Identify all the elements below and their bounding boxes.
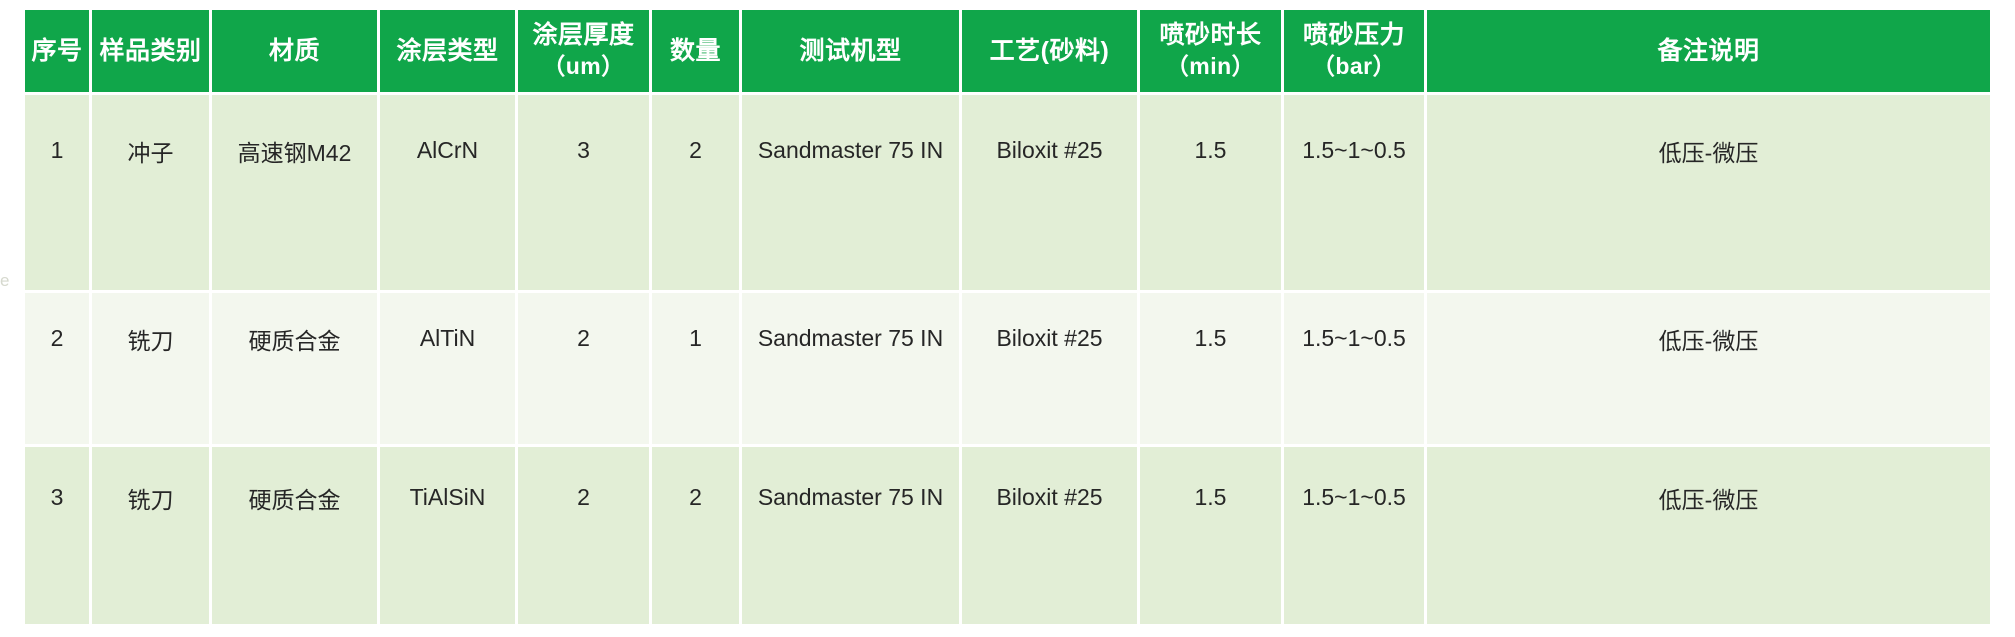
table-row[interactable]: 2 铣刀 硬质合金 AlTiN 2 1 Sandmaster 75 IN Bil… — [25, 293, 1990, 447]
spreadsheet-canvas: e 序号 样品类别 材质 — [0, 0, 2015, 637]
column-header-process-media[interactable]: 工艺(砂料) — [962, 10, 1140, 95]
column-header-remark-label: 备注说明 — [1657, 37, 1759, 65]
column-header-coating-thickness-unit: （um） — [522, 51, 645, 82]
column-header-quantity[interactable]: 数量 — [652, 10, 742, 95]
column-header-blast-time[interactable]: 喷砂时长 （min） — [1140, 10, 1284, 95]
cell-test-machine-value: Sandmaster 75 IN — [746, 137, 955, 164]
cell-index-value: 2 — [29, 325, 85, 352]
cell-process-media-value: Biloxit #25 — [966, 325, 1133, 352]
cell-blast-pressure-value: 1.5~1~0.5 — [1288, 137, 1420, 164]
cell-blast-time-value: 1.5 — [1144, 137, 1277, 164]
table-header-row: 序号 样品类别 材质 涂层类型 涂层厚度 （um） 数量 — [25, 10, 1990, 95]
cell-coating-thickness[interactable]: 2 — [518, 293, 652, 447]
cell-coating-type[interactable]: AlTiN — [380, 293, 518, 447]
cell-remark-value: 低压-微压 — [1431, 481, 1986, 515]
column-header-blast-pressure[interactable]: 喷砂压力 （bar） — [1284, 10, 1427, 95]
cell-blast-time[interactable]: 1.5 — [1140, 95, 1284, 293]
column-header-coating-thickness-label: 涂层厚度 — [532, 21, 634, 49]
column-header-remark[interactable]: 备注说明 — [1427, 10, 1990, 95]
cell-index[interactable]: 2 — [25, 293, 92, 447]
column-header-blast-pressure-label: 喷砂压力 — [1303, 21, 1405, 49]
table-row[interactable]: 3 铣刀 硬质合金 TiAlSiN 2 2 Sandmaster 75 IN B… — [25, 447, 1990, 624]
cell-coating-type[interactable]: AlCrN — [380, 95, 518, 293]
cell-sample-type-value: 冲子 — [96, 134, 205, 168]
column-header-blast-time-unit: （min） — [1144, 51, 1277, 82]
cell-index-value: 3 — [29, 484, 85, 511]
cell-quantity-value: 2 — [656, 137, 735, 164]
cell-material-value: 高速钢M42 — [216, 134, 373, 168]
cell-blast-pressure-value: 1.5~1~0.5 — [1288, 484, 1420, 511]
cell-remark[interactable]: 低压-微压 — [1427, 293, 1990, 447]
column-header-coating-type-label: 涂层类型 — [396, 37, 498, 65]
column-header-test-machine[interactable]: 测试机型 — [742, 10, 962, 95]
table-row[interactable]: 1 冲子 高速钢M42 AlCrN 3 2 Sandmaster 75 IN B… — [25, 95, 1990, 293]
column-header-quantity-label: 数量 — [670, 37, 721, 65]
cell-process-media-value: Biloxit #25 — [966, 137, 1133, 164]
cell-blast-time[interactable]: 1.5 — [1140, 293, 1284, 447]
column-header-index-label: 序号 — [31, 37, 82, 65]
cell-sample-type-value: 铣刀 — [96, 322, 205, 356]
cell-test-machine-value: Sandmaster 75 IN — [746, 325, 955, 352]
cell-coating-type-value: TiAlSiN — [384, 484, 511, 511]
cell-material[interactable]: 硬质合金 — [212, 293, 380, 447]
cell-remark-value: 低压-微压 — [1431, 134, 1986, 168]
cell-quantity[interactable]: 2 — [652, 447, 742, 624]
cell-test-machine[interactable]: Sandmaster 75 IN — [742, 95, 962, 293]
cell-test-machine[interactable]: Sandmaster 75 IN — [742, 447, 962, 624]
cell-test-machine-value: Sandmaster 75 IN — [746, 484, 955, 511]
cell-material-value: 硬质合金 — [216, 322, 373, 356]
sandblasting-test-plan-table: 序号 样品类别 材质 涂层类型 涂层厚度 （um） 数量 — [25, 10, 1990, 624]
cell-process-media[interactable]: Biloxit #25 — [962, 293, 1140, 447]
column-header-test-machine-label: 测试机型 — [799, 37, 901, 65]
cell-sample-type[interactable]: 冲子 — [92, 95, 212, 293]
cell-blast-time-value: 1.5 — [1144, 484, 1277, 511]
cell-coating-thickness-value: 2 — [522, 484, 645, 511]
cell-index[interactable]: 3 — [25, 447, 92, 624]
cell-remark-value: 低压-微压 — [1431, 322, 1986, 356]
cell-quantity-value: 2 — [656, 484, 735, 511]
cell-coating-type-value: AlTiN — [384, 325, 511, 352]
cell-coating-type-value: AlCrN — [384, 137, 511, 164]
cell-remark[interactable]: 低压-微压 — [1427, 95, 1990, 293]
cell-quantity[interactable]: 1 — [652, 293, 742, 447]
column-header-material-label: 材质 — [269, 37, 320, 65]
cell-blast-pressure[interactable]: 1.5~1~0.5 — [1284, 447, 1427, 624]
cell-process-media-value: Biloxit #25 — [966, 484, 1133, 511]
column-header-blast-pressure-unit: （bar） — [1288, 51, 1420, 82]
column-header-sample-type[interactable]: 样品类别 — [92, 10, 212, 95]
column-header-index[interactable]: 序号 — [25, 10, 92, 95]
cell-sample-type-value: 铣刀 — [96, 481, 205, 515]
cell-coating-thickness[interactable]: 3 — [518, 95, 652, 293]
cell-quantity-value: 1 — [656, 325, 735, 352]
cell-index-value: 1 — [29, 137, 85, 164]
column-header-coating-type[interactable]: 涂层类型 — [380, 10, 518, 95]
cell-blast-pressure[interactable]: 1.5~1~0.5 — [1284, 293, 1427, 447]
cell-material[interactable]: 高速钢M42 — [212, 95, 380, 293]
column-header-coating-thickness[interactable]: 涂层厚度 （um） — [518, 10, 652, 95]
cell-quantity[interactable]: 2 — [652, 95, 742, 293]
clipped-edge-artifact: e — [0, 272, 9, 306]
cell-coating-thickness-value: 2 — [522, 325, 645, 352]
column-header-blast-time-label: 喷砂时长 — [1159, 21, 1261, 49]
cell-blast-pressure-value: 1.5~1~0.5 — [1288, 325, 1420, 352]
cell-blast-time-value: 1.5 — [1144, 325, 1277, 352]
cell-sample-type[interactable]: 铣刀 — [92, 447, 212, 624]
cell-coating-type[interactable]: TiAlSiN — [380, 447, 518, 624]
cell-material[interactable]: 硬质合金 — [212, 447, 380, 624]
cell-sample-type[interactable]: 铣刀 — [92, 293, 212, 447]
column-header-material[interactable]: 材质 — [212, 10, 380, 95]
cell-remark[interactable]: 低压-微压 — [1427, 447, 1990, 624]
cell-test-machine[interactable]: Sandmaster 75 IN — [742, 293, 962, 447]
cell-process-media[interactable]: Biloxit #25 — [962, 447, 1140, 624]
cell-index[interactable]: 1 — [25, 95, 92, 293]
cell-process-media[interactable]: Biloxit #25 — [962, 95, 1140, 293]
column-header-sample-type-label: 样品类别 — [99, 37, 201, 65]
cell-blast-pressure[interactable]: 1.5~1~0.5 — [1284, 95, 1427, 293]
column-header-process-media-label: 工艺(砂料) — [990, 37, 1110, 65]
cell-coating-thickness[interactable]: 2 — [518, 447, 652, 624]
table-body: 1 冲子 高速钢M42 AlCrN 3 2 Sandmaster 75 IN B… — [25, 95, 1990, 624]
cell-blast-time[interactable]: 1.5 — [1140, 447, 1284, 624]
cell-material-value: 硬质合金 — [216, 481, 373, 515]
cell-coating-thickness-value: 3 — [522, 137, 645, 164]
